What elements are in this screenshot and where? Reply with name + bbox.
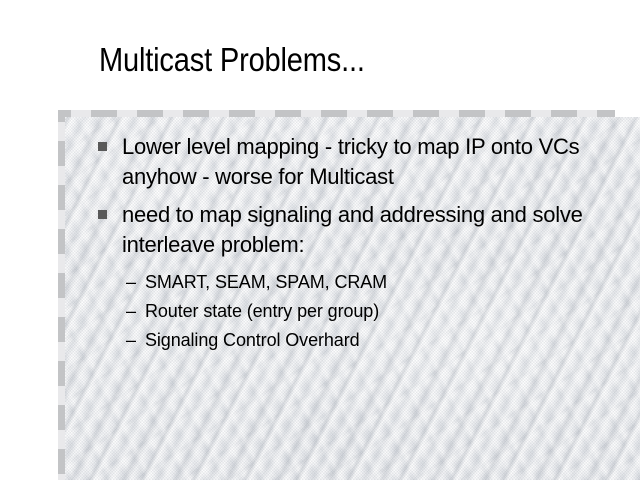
- square-bullet-icon: [98, 210, 107, 219]
- sub-bullet-item: – SMART, SEAM, SPAM, CRAM: [126, 268, 632, 297]
- bullet-text: Lower level mapping - tricky to map IP o…: [122, 132, 595, 192]
- dash-bullet-icon: –: [126, 326, 136, 355]
- bullet-item: need to map signaling and addressing and…: [98, 200, 632, 355]
- sub-bullet-item: – Router state (entry per group): [126, 297, 632, 326]
- bullet-text: need to map signaling and addressing and…: [122, 200, 595, 260]
- bullet-item: Lower level mapping - tricky to map IP o…: [98, 132, 632, 192]
- slide-title: Multicast Problems...: [99, 40, 539, 86]
- content-box-left-border: [58, 110, 65, 480]
- sub-bullet-text: Signaling Control Overhard: [145, 326, 632, 355]
- square-bullet-icon: [98, 142, 107, 151]
- bullet-list: Lower level mapping - tricky to map IP o…: [98, 132, 632, 480]
- content-box-top-border: [58, 110, 615, 117]
- dash-bullet-icon: –: [126, 268, 136, 297]
- presentation-slide: Multicast Problems... Lower level mappin…: [0, 0, 640, 480]
- slide-content-box: Lower level mapping - tricky to map IP o…: [58, 110, 640, 480]
- sub-bullet-item: – Signaling Control Overhard: [126, 326, 632, 355]
- sub-bullet-text: Router state (entry per group): [145, 297, 632, 326]
- sub-bullet-text: SMART, SEAM, SPAM, CRAM: [145, 268, 632, 297]
- dash-bullet-icon: –: [126, 297, 136, 326]
- sub-bullet-list: – SMART, SEAM, SPAM, CRAM – Router state…: [126, 268, 632, 355]
